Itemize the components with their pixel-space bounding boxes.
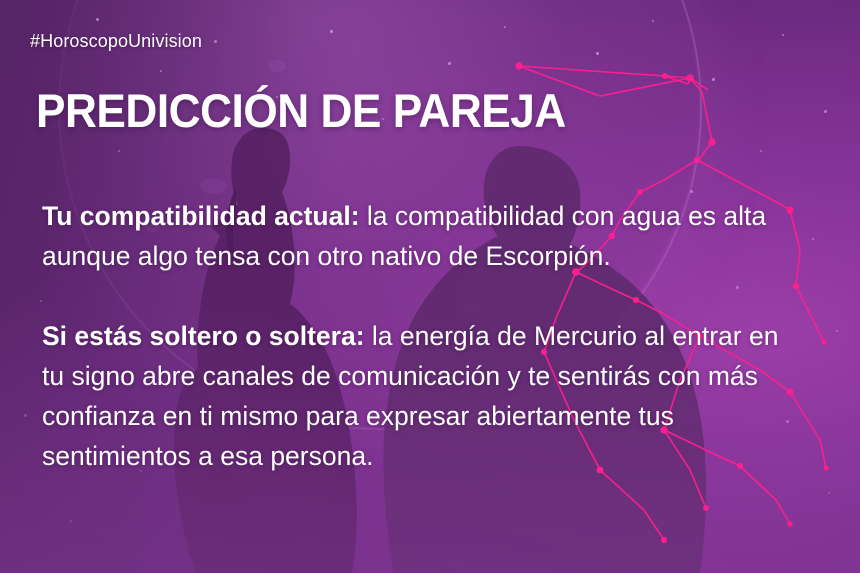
horoscope-card: #HoroscopoUnivision PREDICCIÓN DE PAREJA… — [0, 0, 860, 573]
prediction-body: Tu compatibilidad actual: la compatibili… — [42, 196, 798, 476]
card-content: #HoroscopoUnivision PREDICCIÓN DE PAREJA… — [0, 0, 860, 573]
hashtag-label: #HoroscopoUnivision — [30, 31, 202, 52]
paragraph-compatibility-lead: Tu compatibilidad actual: — [42, 201, 360, 231]
paragraph-single-lead: Si estás soltero o soltera: — [42, 321, 365, 351]
paragraph-single: Si estás soltero o soltera: la energía d… — [42, 316, 798, 476]
paragraph-compatibility: Tu compatibilidad actual: la compatibili… — [42, 196, 798, 276]
page-title: PREDICCIÓN DE PAREJA — [36, 86, 566, 136]
